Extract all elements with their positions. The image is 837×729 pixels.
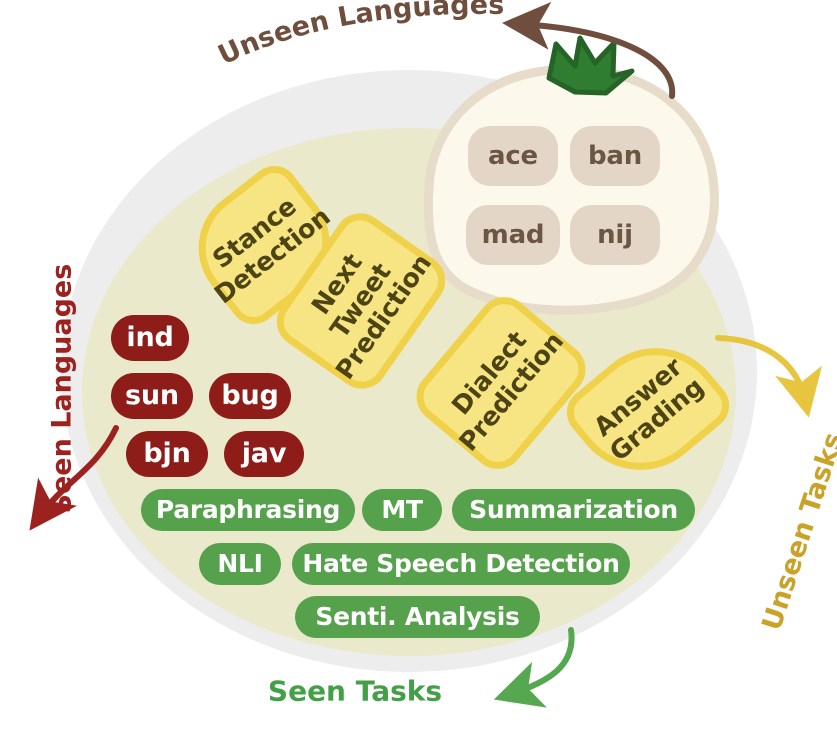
seen-task-pill[interactable]: Summarization (452, 489, 695, 531)
seen-language-label: ind (126, 322, 173, 353)
seen-task-pill[interactable]: Senti. Analysis (295, 596, 540, 638)
diagram-canvas: Unseen Languages ace ban mad nij Stance … (0, 0, 837, 729)
unseen-language-label: nij (597, 220, 633, 250)
unseen-language-chip[interactable]: ban (570, 126, 660, 186)
unseen-language-chip[interactable]: mad (466, 205, 560, 265)
seen-language-pill[interactable]: ind (111, 315, 189, 361)
seen-task-label: Hate Speech Detection (302, 549, 619, 578)
seen-language-pill[interactable]: bug (209, 373, 291, 419)
seen-language-pill[interactable]: jav (224, 431, 304, 477)
seen-task-label: NLI (217, 549, 262, 578)
unseen-language-label: ace (488, 141, 538, 171)
seen-language-label: sun (125, 380, 179, 411)
unseen-language-label: ban (588, 141, 642, 171)
unseen-languages-blob (428, 69, 714, 310)
seen-language-pill[interactable]: sun (111, 373, 193, 419)
caption-seen-tasks: Seen Tasks (268, 675, 442, 708)
seen-task-label: Paraphrasing (156, 495, 340, 524)
caption-unseen-languages: Unseen Languages (213, 0, 504, 71)
unseen-language-chip[interactable]: nij (570, 205, 660, 265)
seen-task-label: Summarization (469, 495, 678, 524)
leaf-icon (549, 38, 632, 93)
seen-task-pill[interactable]: NLI (199, 543, 281, 585)
seen-task-pill[interactable]: Paraphrasing (141, 489, 355, 531)
unseen-language-label: mad (482, 220, 545, 250)
seen-language-label: bug (221, 380, 278, 411)
seen-task-label: Senti. Analysis (315, 602, 519, 631)
seen-language-label: bjn (143, 438, 190, 469)
seen-task-pill[interactable]: MT (362, 489, 442, 531)
caption-seen-languages: Seen Languages (47, 294, 78, 514)
seen-language-pill[interactable]: bjn (126, 431, 208, 477)
unseen-language-chip[interactable]: ace (468, 126, 558, 186)
seen-language-label: jav (242, 438, 286, 469)
seen-task-label: MT (381, 495, 422, 524)
seen-task-pill[interactable]: Hate Speech Detection (292, 543, 630, 585)
